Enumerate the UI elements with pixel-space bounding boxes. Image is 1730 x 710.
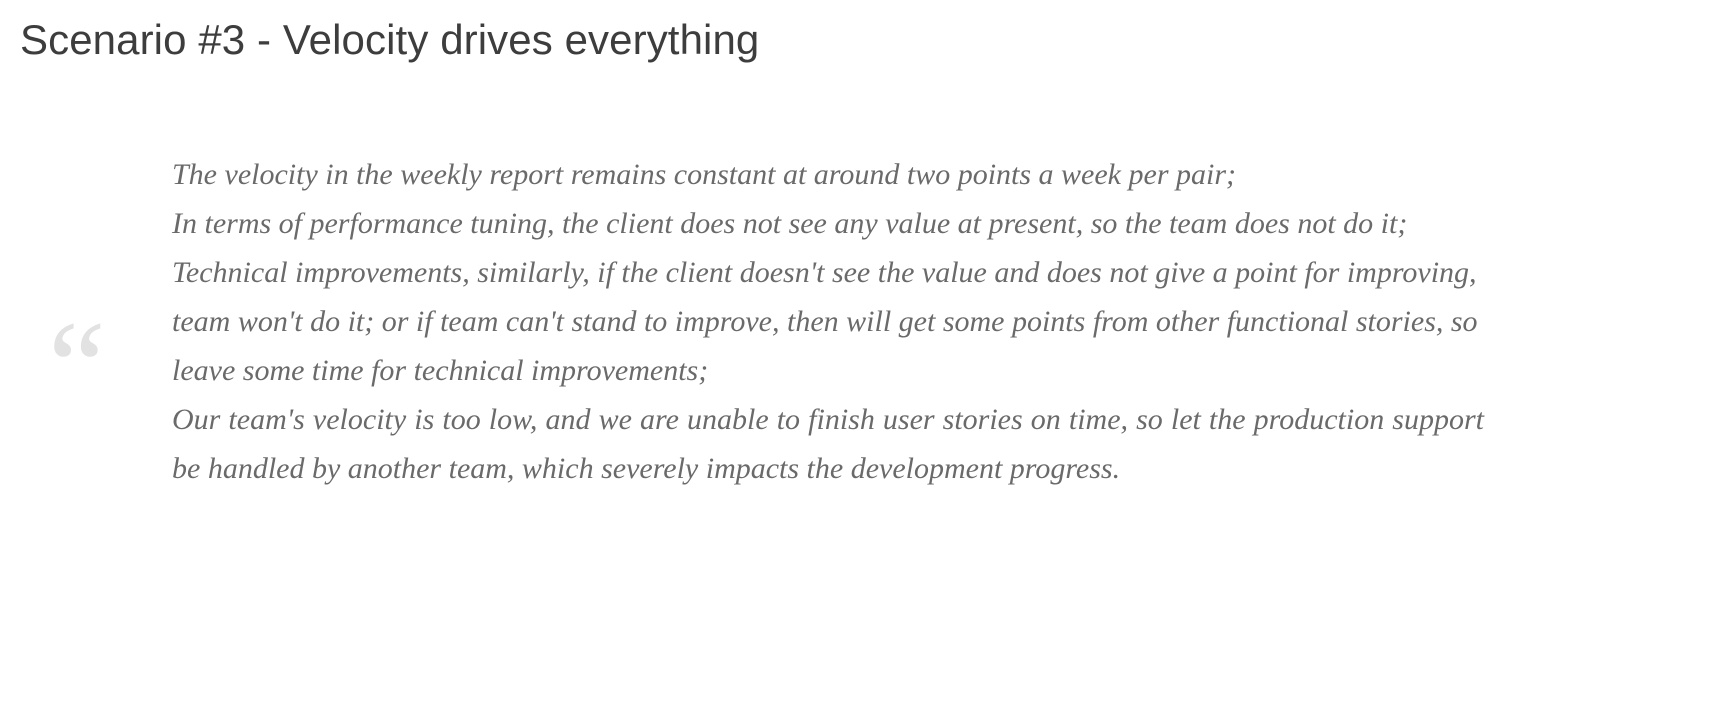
- quote-paragraph-1: The velocity in the weekly report remain…: [172, 150, 1484, 199]
- quote-paragraph-2: In terms of performance tuning, the clie…: [172, 199, 1484, 248]
- open-quote-icon: “: [48, 302, 106, 432]
- scenario-page: Scenario #3 - Velocity drives everything…: [0, 0, 1730, 710]
- page-title: Scenario #3 - Velocity drives everything: [20, 14, 759, 67]
- quote-paragraph-4: Our team's velocity is too low, and we a…: [172, 395, 1484, 493]
- quote-text: The velocity in the weekly report remain…: [172, 150, 1484, 493]
- quote-paragraph-3: Technical improvements, similarly, if th…: [172, 248, 1484, 395]
